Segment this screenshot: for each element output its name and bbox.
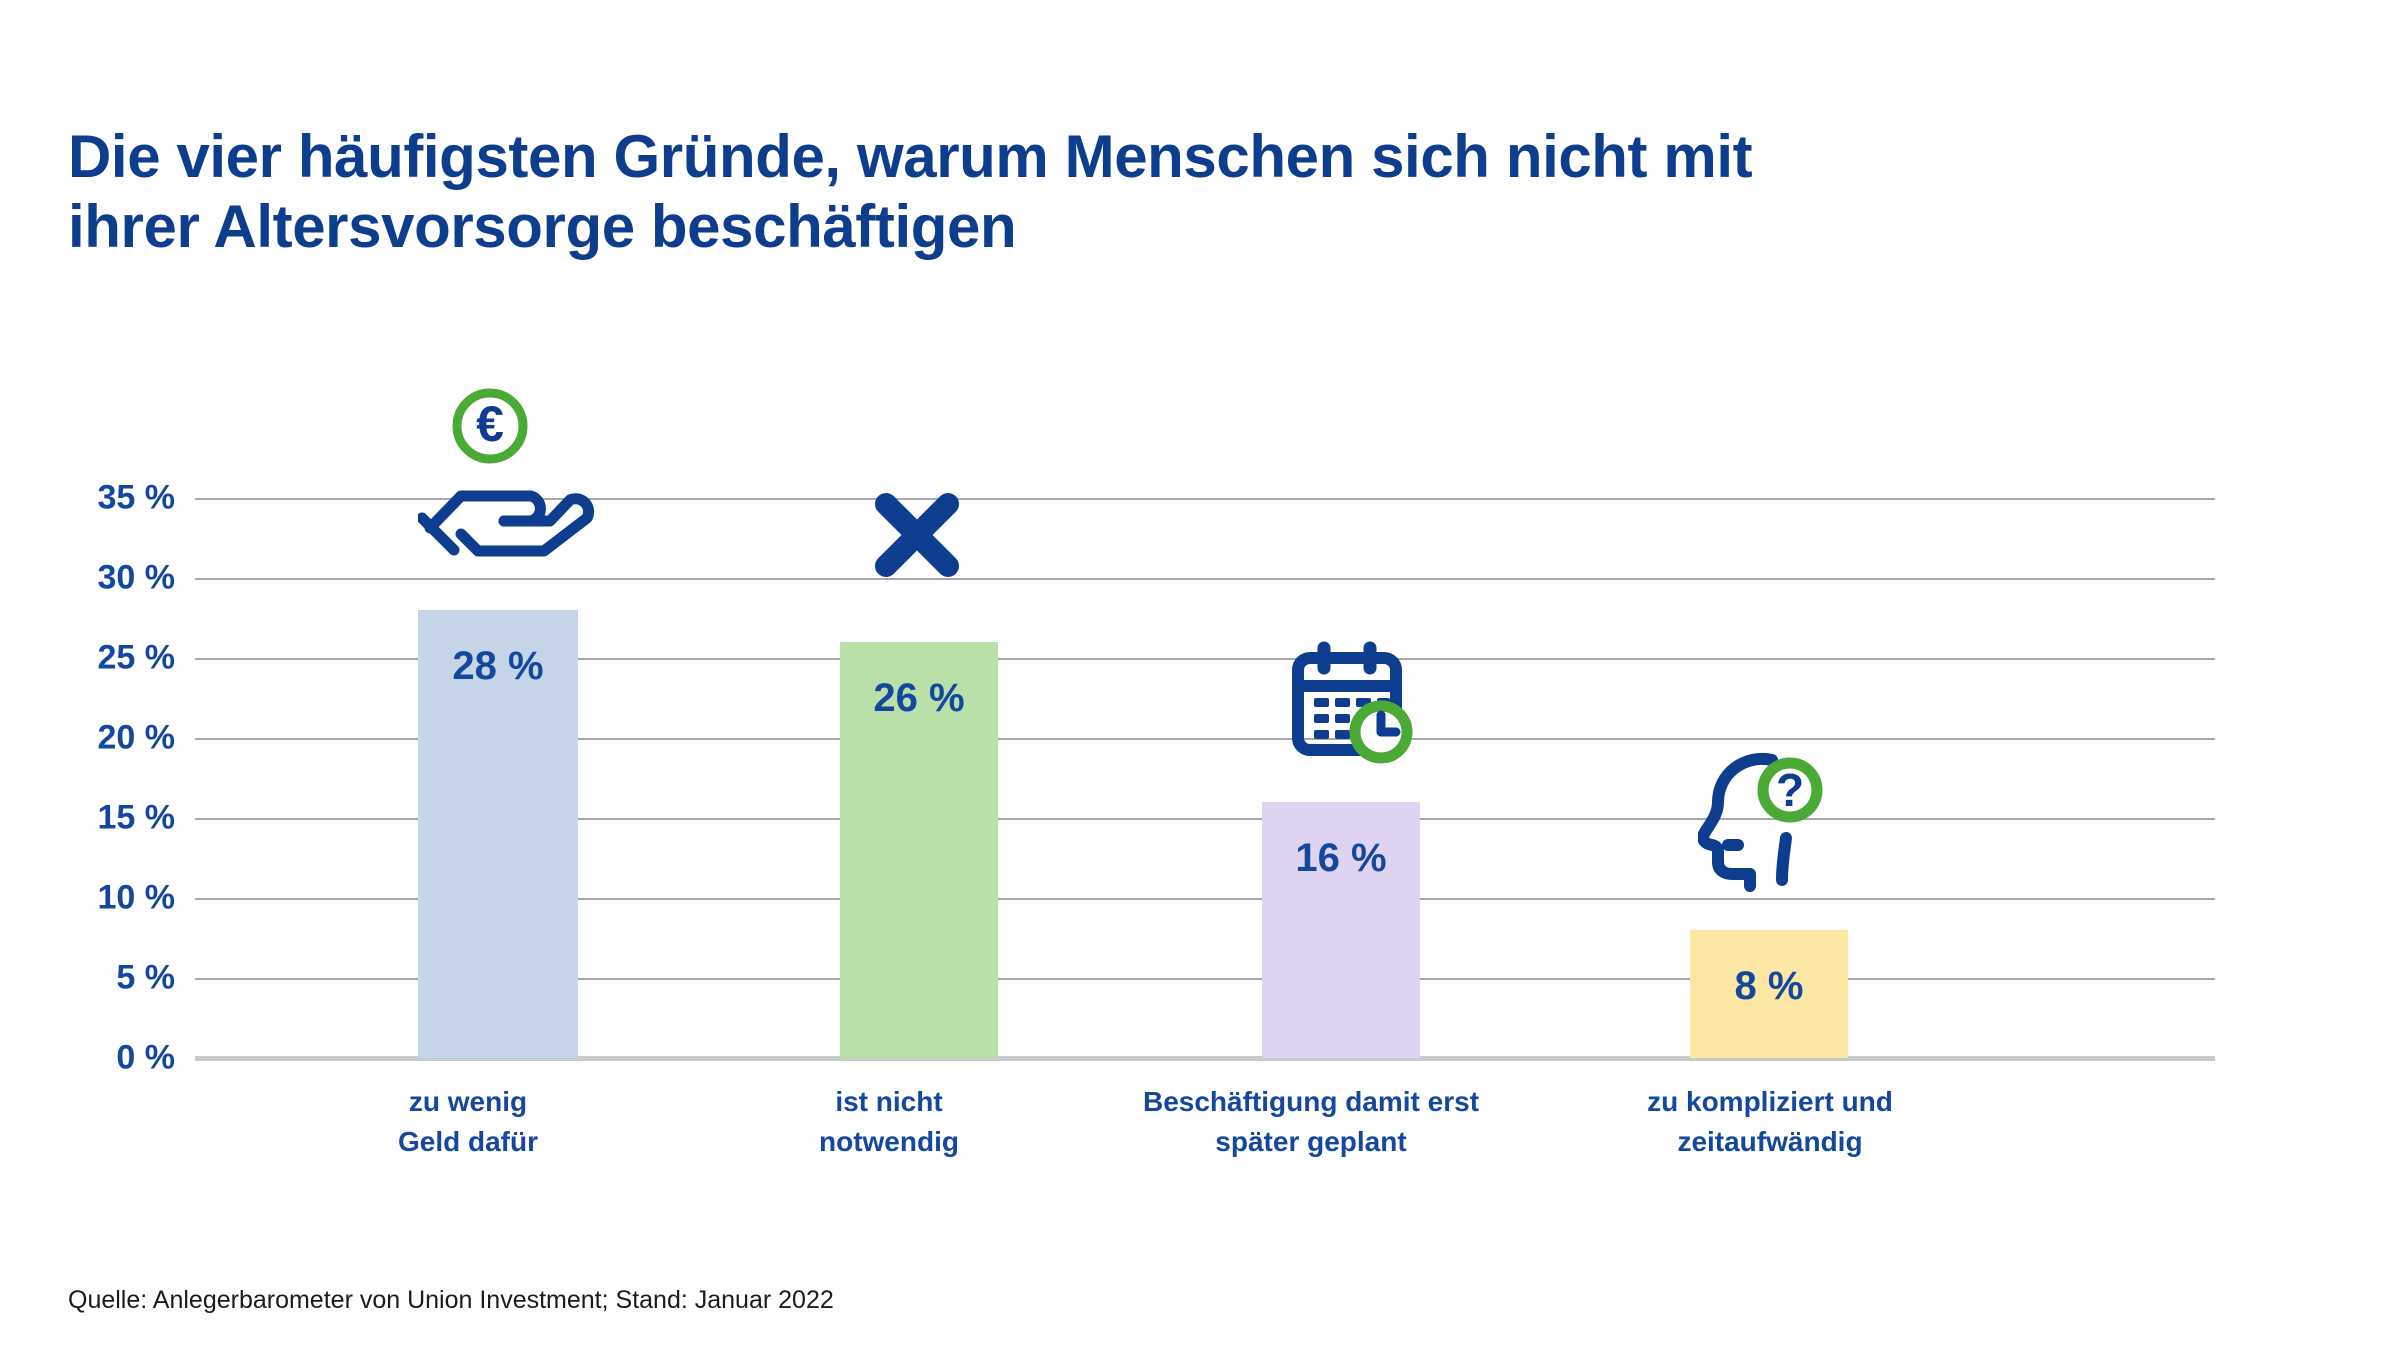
category-label-line-1: zu wenig: [298, 1082, 638, 1122]
y-tick-15: 15 %: [98, 799, 176, 838]
cross-x-icon: [872, 490, 962, 580]
bar-spaeter-geplant: 16 %: [1262, 802, 1420, 1058]
y-tick-35: 35 %: [98, 479, 176, 518]
bar-value-label: 28 %: [418, 644, 578, 689]
calendar-clock-icon: [1288, 640, 1418, 772]
y-tick-25: 25 %: [98, 639, 176, 678]
y-tick-20: 20 %: [98, 719, 176, 758]
y-tick-30: 30 %: [98, 559, 176, 598]
category-label-line-2: notwendig: [719, 1122, 1059, 1162]
bar-chart: 28 % 26 % 16 % 8 % 35 % 30 % 25 % 20 % 1…: [0, 0, 2400, 1351]
category-label-zu-kompliziert: zu kompliziert und zeitaufwändig: [1540, 1082, 2000, 1162]
bar-zu-wenig-geld: 28 %: [418, 610, 578, 1058]
y-tick-0: 0 %: [116, 1039, 175, 1078]
bar-ist-nicht-notwendig: 26 %: [840, 642, 998, 1058]
category-label-zu-wenig-geld: zu wenig Geld dafür: [298, 1082, 638, 1162]
y-tick-5: 5 %: [116, 959, 175, 998]
bar-value-label: 8 %: [1690, 964, 1848, 1009]
svg-text:€: €: [476, 396, 504, 452]
category-label-line-2: Geld dafür: [298, 1122, 638, 1162]
category-label-spaeter-geplant: Beschäftigung damit erst später geplant: [1081, 1082, 1541, 1162]
bar-value-label: 26 %: [840, 676, 998, 721]
y-axis: 35 % 30 % 25 % 20 % 15 % 10 % 5 % 0 %: [0, 498, 175, 1058]
category-label-line-1: ist nicht: [719, 1082, 1059, 1122]
bar-value-label: 16 %: [1262, 836, 1420, 881]
category-label-line-2: später geplant: [1081, 1122, 1541, 1162]
plot-area: 28 % 26 % 16 % 8 %: [195, 498, 2215, 1058]
svg-text:?: ?: [1776, 764, 1804, 816]
category-label-line-1: Beschäftigung damit erst: [1081, 1082, 1541, 1122]
bar-zu-kompliziert: 8 %: [1690, 930, 1848, 1058]
category-label-line-2: zeitaufwändig: [1540, 1122, 2000, 1162]
source-note: Quelle: Anlegerbarometer von Union Inves…: [68, 1286, 834, 1315]
euro-hand-icon: €: [418, 384, 598, 570]
category-label-line-1: zu kompliziert und: [1540, 1082, 2000, 1122]
gridline-30: [195, 578, 2215, 580]
category-label-ist-nicht-notwendig: ist nicht notwendig: [719, 1082, 1059, 1162]
y-tick-10: 10 %: [98, 879, 176, 918]
head-question-icon: ?: [1698, 742, 1828, 892]
